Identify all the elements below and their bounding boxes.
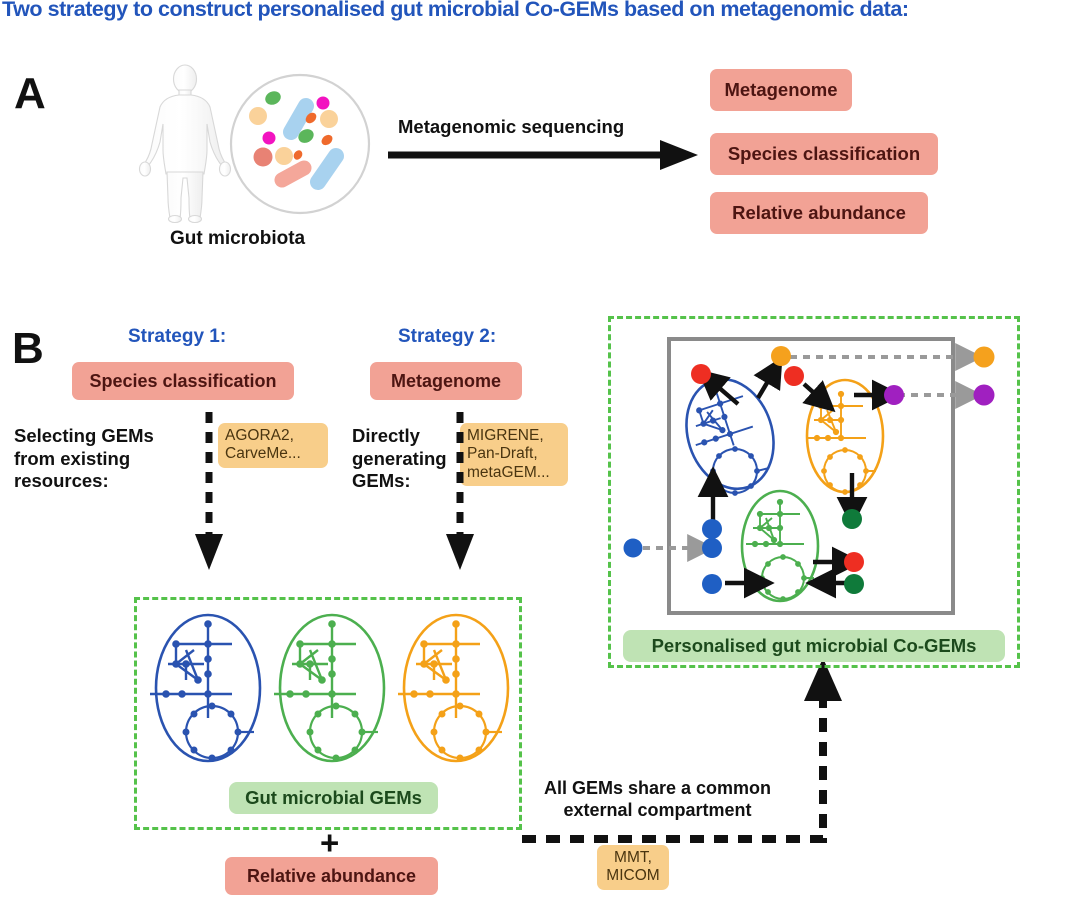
- strategy-1-heading: Strategy 1:: [128, 326, 226, 348]
- personalised-cogems-label: Personalised gut microbial Co-GEMs: [623, 630, 1005, 662]
- strategy-2-description: Directly generating GEMs:: [352, 425, 457, 493]
- output-box-metagenome[interactable]: Metagenome: [710, 69, 852, 111]
- metagenomic-sequencing-label: Metagenomic sequencing: [398, 116, 624, 138]
- figure-title: Two strategy to construct personalised g…: [0, 0, 1080, 22]
- sequencing-arrow-icon: [388, 138, 698, 172]
- merge-tools-box[interactable]: MMT, MICOM: [597, 845, 669, 890]
- plus-sign: +: [320, 826, 339, 859]
- strategy-2-tools-box[interactable]: MIGRENE, Pan-Draft, metaGEM...: [460, 423, 568, 486]
- output-box-species-classification[interactable]: Species classification: [710, 133, 938, 175]
- gut-microbial-gems-label: Gut microbial GEMs: [229, 782, 438, 814]
- panel-a-letter: A: [14, 72, 46, 116]
- strategy-2-heading: Strategy 2:: [398, 326, 496, 348]
- shared-external-compartment-box: [667, 337, 955, 615]
- relative-abundance-box[interactable]: Relative abundance: [225, 857, 438, 895]
- gut-microbiota-caption: Gut microbiota: [170, 228, 305, 250]
- panel-b-letter: B: [12, 327, 44, 371]
- strategy-1-tools-box[interactable]: AGORA2, CarveMe...: [218, 423, 328, 468]
- human-body-icon: [130, 62, 240, 222]
- gut-microbiota-icon: [228, 72, 372, 216]
- strategy-2-input-box[interactable]: Metagenome: [370, 362, 522, 400]
- merge-note-label: All GEMs share a common external compart…: [530, 778, 785, 821]
- figure-root: Two strategy to construct personalised g…: [0, 0, 1080, 900]
- output-box-relative-abundance[interactable]: Relative abundance: [710, 192, 928, 234]
- strategy-1-description: Selecting GEMs from existing resources:: [14, 425, 194, 493]
- strategy-1-input-box[interactable]: Species classification: [72, 362, 294, 400]
